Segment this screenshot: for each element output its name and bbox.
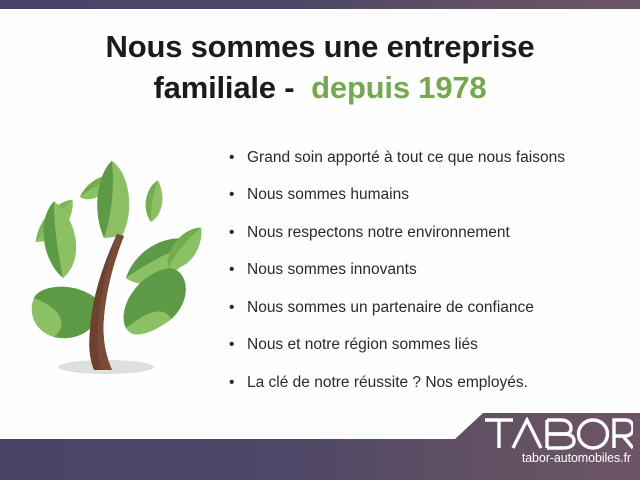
list-item: •Nous respectons notre environnement bbox=[229, 223, 629, 244]
list-item: •La clé de notre réussite ? Nos employés… bbox=[229, 373, 629, 394]
list-item: •Nous et notre région sommes liés bbox=[229, 335, 629, 356]
tabor-wordmark-icon bbox=[483, 417, 633, 450]
tree-svg bbox=[8, 150, 220, 390]
leaf-top-center bbox=[92, 159, 133, 238]
list-item-label: Nous sommes humains bbox=[247, 186, 409, 203]
list-item-label: Grand soin apporté à tout ce que nous fa… bbox=[247, 149, 565, 166]
leaf-top-right-small bbox=[137, 180, 172, 222]
page-title-accent: depuis 1978 bbox=[311, 70, 486, 105]
tree-illustration bbox=[8, 150, 220, 390]
page-title-line-2: familiale - depuis 1978 bbox=[0, 67, 640, 108]
list-item-label: La clé de notre réussite ? Nos employés. bbox=[247, 374, 528, 391]
list-item-label: Nous respectons notre environnement bbox=[247, 224, 510, 241]
leaf-lower-right bbox=[113, 265, 196, 339]
page-title: Nous sommes une entreprise familiale - d… bbox=[0, 26, 640, 108]
benefits-list: •Grand soin apporté à tout ce que nous f… bbox=[229, 148, 629, 410]
list-item: •Grand soin apporté à tout ce que nous f… bbox=[229, 148, 629, 169]
list-item-label: Nous sommes innovants bbox=[247, 261, 417, 278]
tree-trunk bbox=[89, 234, 124, 370]
leaf-upper-left bbox=[22, 201, 96, 279]
bullet-icon: • bbox=[229, 185, 234, 206]
bullet-icon: • bbox=[229, 148, 234, 169]
tree-trunk-highlight bbox=[97, 234, 124, 370]
list-item: •Nous sommes un partenaire de confiance bbox=[229, 298, 629, 319]
page-title-main: familiale - bbox=[154, 70, 295, 105]
slide-canvas: Nous sommes une entreprise familiale - d… bbox=[0, 0, 640, 480]
list-item-label: Nous sommes un partenaire de confiance bbox=[247, 299, 534, 316]
list-item-label: Nous et notre région sommes liés bbox=[247, 336, 478, 353]
list-item: •Nous sommes humains bbox=[229, 185, 629, 206]
bullet-icon: • bbox=[229, 373, 234, 394]
list-item: •Nous sommes innovants bbox=[229, 260, 629, 281]
brand-logo[interactable]: tabor-automobiles.fr bbox=[483, 417, 635, 475]
footer-bar: tabor-automobiles.fr bbox=[0, 405, 640, 480]
top-accent-bar bbox=[0, 0, 640, 9]
page-title-line-1: Nous sommes une entreprise bbox=[0, 26, 640, 67]
bullet-icon: • bbox=[229, 260, 234, 281]
brand-tagline: tabor-automobiles.fr bbox=[483, 451, 635, 465]
bullet-icon: • bbox=[229, 223, 234, 244]
bullet-icon: • bbox=[229, 298, 234, 319]
bullet-icon: • bbox=[229, 335, 234, 356]
